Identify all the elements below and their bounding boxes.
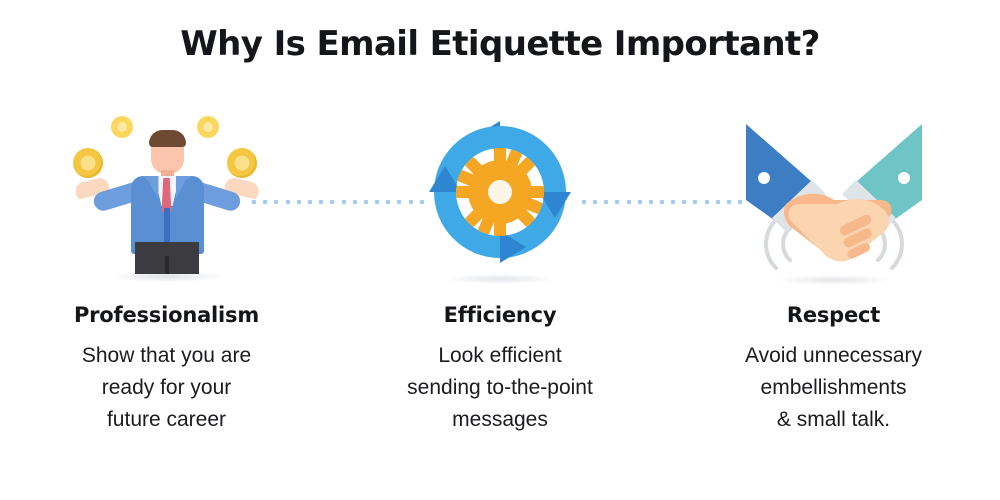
body-line: embellishments xyxy=(684,372,984,404)
column-heading: Respect xyxy=(787,304,880,327)
infographic-root: Why Is Email Etiquette Important? xyxy=(0,0,1000,500)
body-line: messages xyxy=(350,404,650,436)
column-respect: Respect Avoid unnecessary embellishments… xyxy=(667,108,1000,436)
column-heading: Efficiency xyxy=(444,304,557,327)
cycle-arrows-svg xyxy=(400,108,600,288)
column-professionalism: Professionalism Show that you are ready … xyxy=(0,108,333,436)
column-body: Look efficient sending to-the-point mess… xyxy=(350,340,650,436)
hair xyxy=(149,130,186,147)
column-body: Avoid unnecessary embellishments & small… xyxy=(684,340,984,436)
body-line: Avoid unnecessary xyxy=(684,340,984,372)
body-line: sending to-the-point xyxy=(350,372,650,404)
columns-container: Professionalism Show that you are ready … xyxy=(0,108,1000,436)
coin-icon xyxy=(197,116,219,138)
body-line: ready for your xyxy=(17,372,317,404)
coin-icon xyxy=(111,116,133,138)
body-line: future career xyxy=(17,404,317,436)
refresh-cycle-gear-icon xyxy=(400,108,600,288)
coin-icon xyxy=(227,148,257,178)
body-line: Show that you are xyxy=(17,340,317,372)
hand-front xyxy=(788,199,889,261)
body-line: Look efficient xyxy=(350,340,650,372)
figure-shadow xyxy=(776,275,892,285)
column-heading: Professionalism xyxy=(74,304,259,327)
column-body: Show that you are ready for your future … xyxy=(17,340,317,436)
businessman-juggling-coins-icon xyxy=(67,108,267,288)
trouser-gap xyxy=(165,256,169,274)
body-line: & small talk. xyxy=(684,404,984,436)
page-title: Why Is Email Etiquette Important? xyxy=(0,24,1000,64)
figure-shadow xyxy=(444,274,556,284)
handshake-svg xyxy=(734,108,934,288)
handshake-icon xyxy=(734,108,934,288)
coin-icon xyxy=(73,148,103,178)
column-efficiency: Efficiency Look efficient sending to-the… xyxy=(334,108,667,436)
gear-icon xyxy=(456,148,544,236)
